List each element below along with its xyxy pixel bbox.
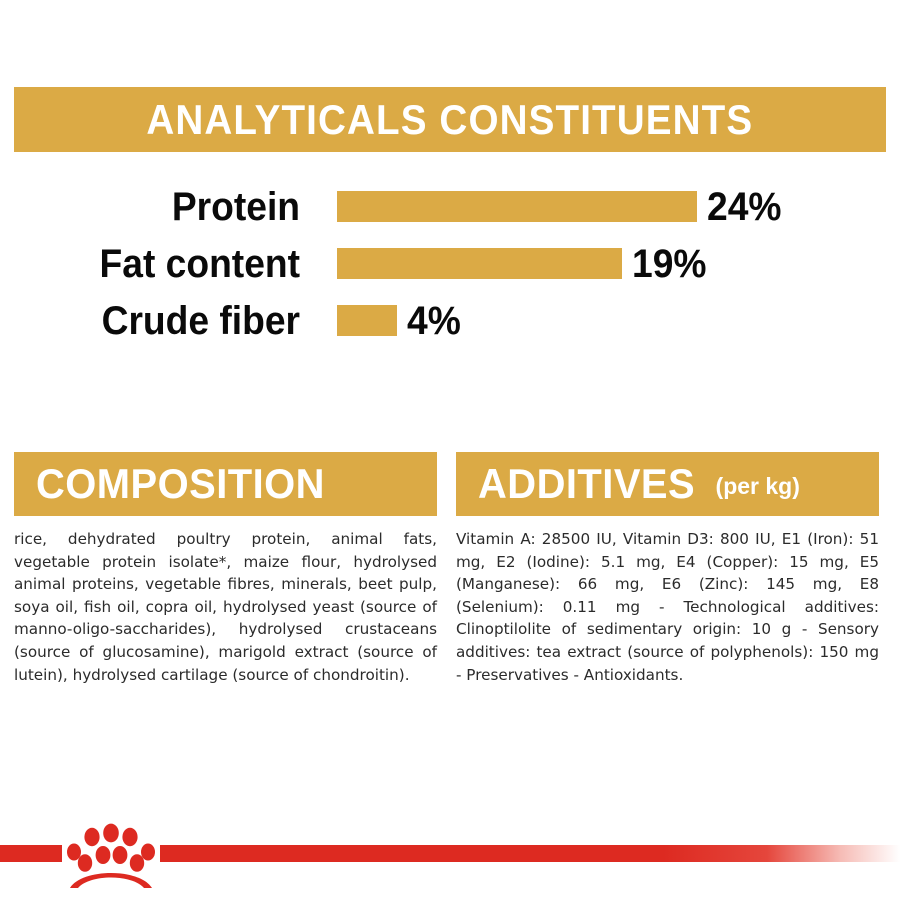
additives-banner-title: ADDITIVES: [478, 463, 695, 505]
chart-row: Protein 24%: [0, 178, 900, 235]
chart-value-crude-fiber: 4%: [407, 301, 461, 341]
chart-value-protein: 24%: [707, 187, 781, 227]
chart-bar-protein: [337, 191, 697, 222]
chart-bar-group: 19%: [337, 248, 712, 279]
chart-value-fat-content: 19%: [632, 244, 706, 284]
chart-row: Crude fiber 4%: [0, 292, 900, 349]
analyticals-constituents-banner: ANALYTICALS CONSTITUENTS: [14, 87, 886, 152]
chart-row-label-fat-content: Fat content: [21, 244, 300, 284]
chart-bar-crude-fiber: [337, 305, 397, 336]
footer-rule-right: [160, 845, 900, 862]
chart-row-label-crude-fiber: Crude fiber: [21, 301, 300, 341]
chart-bar-group: 4%: [337, 305, 465, 336]
additives-section: ADDITIVES (per kg) Vitamin A: 28500 IU, …: [456, 452, 879, 686]
chart-bar-group: 24%: [337, 191, 787, 222]
chart-row-label-protein: Protein: [21, 187, 300, 227]
composition-banner: COMPOSITION: [14, 452, 437, 516]
composition-section: COMPOSITION rice, dehydrated poultry pro…: [14, 452, 437, 686]
footer-rule-left: [0, 845, 62, 862]
chart-bar-fat-content: [337, 248, 622, 279]
nutrition-info-page: ANALYTICALS CONSTITUENTS Protein 24% Fat…: [0, 0, 900, 900]
additives-banner-subtitle: (per kg): [716, 475, 800, 514]
royal-canin-crown-icon: [62, 818, 160, 890]
analyticals-banner-title: ANALYTICALS CONSTITUENTS: [147, 99, 754, 141]
composition-body-text: rice, dehydrated poultry protein, animal…: [14, 528, 437, 686]
chart-row: Fat content 19%: [0, 235, 900, 292]
analyticals-chart: Protein 24% Fat content 19% Crude fiber …: [0, 178, 900, 349]
composition-banner-title: COMPOSITION: [36, 463, 325, 505]
additives-banner: ADDITIVES (per kg): [456, 452, 879, 516]
footer-brand-bar: [0, 800, 900, 900]
additives-body-text: Vitamin A: 28500 IU, Vitamin D3: 800 IU,…: [456, 528, 879, 686]
detail-sections: COMPOSITION rice, dehydrated poultry pro…: [14, 452, 886, 686]
